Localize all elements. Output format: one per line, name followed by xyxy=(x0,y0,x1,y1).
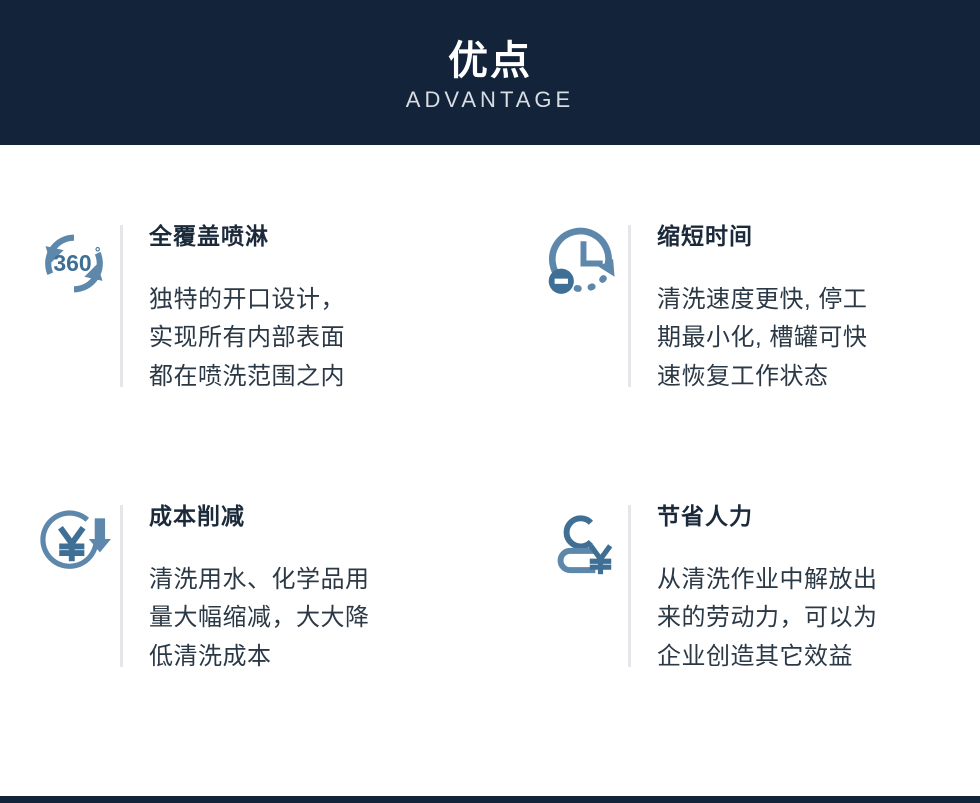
card-text-block: 节省人力 从清洗作业中解放出 来的劳动力，可以为 企业创造其它效益 xyxy=(631,503,980,677)
page-title: 优点 xyxy=(448,40,532,82)
advantages-section: 360 ° 全覆盖喷淋 独特的开口设计， 实现所有内部表面 都在喷洗范围之内 xyxy=(0,145,980,796)
card-text-block: 全覆盖喷淋 独特的开口设计， 实现所有内部表面 都在喷洗范围之内 xyxy=(123,223,510,397)
rotate-360-icon: 360 ° xyxy=(28,223,120,299)
page-subtitle: ADVANTAGE xyxy=(406,88,574,112)
yen-down-arrow-icon xyxy=(28,503,120,579)
card-body: 独特的开口设计， 实现所有内部表面 都在喷洗范围之内 xyxy=(149,281,510,398)
advantage-card-save-manpower: 节省人力 从清洗作业中解放出 来的劳动力，可以为 企业创造其它效益 xyxy=(510,425,980,705)
rotate-360-icon-label: 360 xyxy=(53,250,91,276)
advantage-card-full-coverage-spray: 360 ° 全覆盖喷淋 独特的开口设计， 实现所有内部表面 都在喷洗范围之内 xyxy=(0,145,510,425)
card-title: 节省人力 xyxy=(657,503,980,531)
advantage-card-shorten-time: 缩短时间 清洗速度更快, 停工 期最小化, 槽罐可快 速恢复工作状态 xyxy=(510,145,980,425)
card-title: 全覆盖喷淋 xyxy=(149,223,510,251)
card-text-block: 缩短时间 清洗速度更快, 停工 期最小化, 槽罐可快 速恢复工作状态 xyxy=(631,223,980,397)
card-text-block: 成本削减 清洗用水、化学品用 量大幅缩减，大大降 低清洗成本 xyxy=(123,503,510,677)
rotate-360-icon-degree: ° xyxy=(95,244,101,260)
person-yen-icon xyxy=(536,503,628,579)
card-body: 清洗用水、化学品用 量大幅缩减，大大降 低清洗成本 xyxy=(149,561,510,678)
card-title: 缩短时间 xyxy=(657,223,980,251)
card-body: 从清洗作业中解放出 来的劳动力，可以为 企业创造其它效益 xyxy=(657,561,980,678)
advantage-card-cost-reduction: 成本削减 清洗用水、化学品用 量大幅缩减，大大降 低清洗成本 xyxy=(0,425,510,705)
footer-strip xyxy=(0,796,980,803)
advantages-grid: 360 ° 全覆盖喷淋 独特的开口设计， 实现所有内部表面 都在喷洗范围之内 xyxy=(0,145,980,705)
page-header: 优点 ADVANTAGE xyxy=(0,0,980,145)
card-title: 成本削减 xyxy=(149,503,510,531)
clock-minus-icon xyxy=(536,223,628,299)
card-body: 清洗速度更快, 停工 期最小化, 槽罐可快 速恢复工作状态 xyxy=(657,281,980,398)
